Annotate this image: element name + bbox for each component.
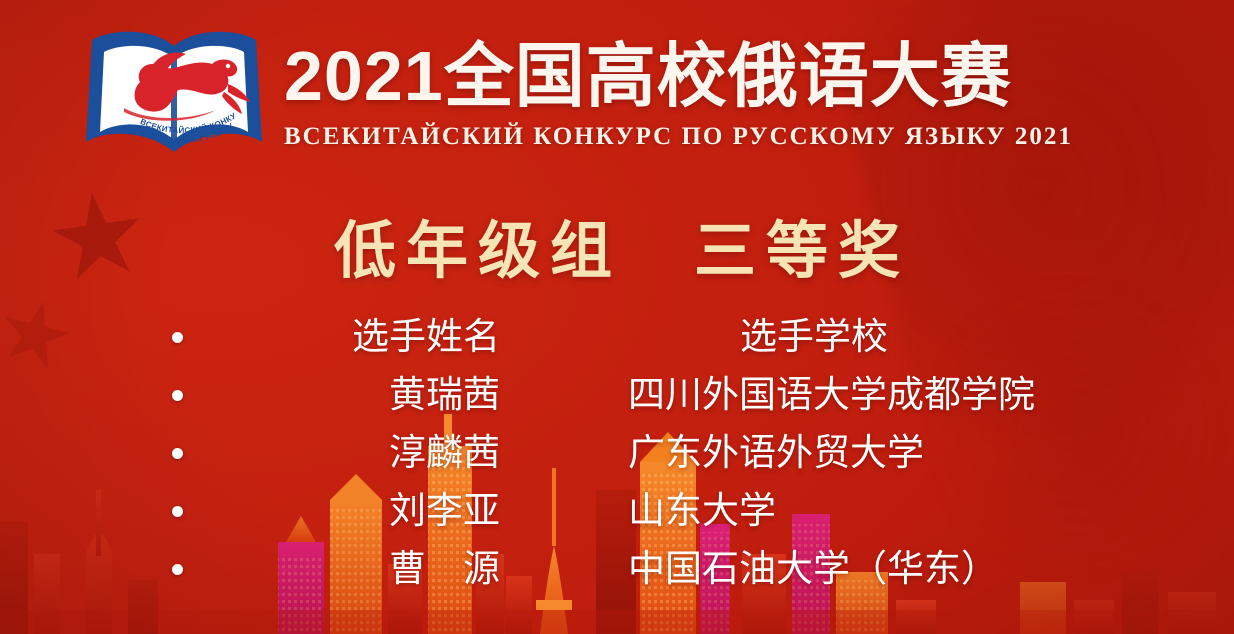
column-header-name: 选手姓名: [255, 314, 500, 360]
open-book-dove-emblem-icon: ВСЕКИТАЙСКИЙ КОНКУРС ПО РУССКОМУ ЯЗЫКУ: [78, 24, 270, 174]
winners-list: 选手姓名 选手学校 黄瑞茜 四川外国语大学成都学院 淳麟茜 广东外语外贸大学 刘…: [0, 308, 1234, 598]
bullet-icon: [172, 506, 183, 517]
winner-name: 曹 源: [255, 546, 500, 592]
winner-school: 广东外语外贸大学: [628, 430, 924, 476]
winner-name: 黄瑞茜: [255, 372, 500, 418]
contest-title-chinese: 2021全国高校俄语大赛: [284, 36, 1164, 116]
bullet-icon: [172, 390, 183, 401]
winner-school: 四川外国语大学成都学院: [628, 372, 1035, 418]
table-row: 黄瑞茜 四川外国语大学成都学院: [0, 366, 1234, 424]
table-header-row: 选手姓名 选手学校: [0, 308, 1234, 366]
bullet-icon: [172, 564, 183, 575]
table-row: 淳麟茜 广东外语外贸大学: [0, 424, 1234, 482]
column-header-school: 选手学校: [628, 314, 1000, 360]
award-category-heading: 低年级组 三等奖: [0, 214, 1234, 290]
table-row: 曹 源 中国石油大学（华东）: [0, 540, 1234, 598]
winner-school: 中国石油大学（华东）: [628, 546, 998, 592]
bullet-icon: [172, 332, 183, 343]
title-block: 2021全国高校俄语大赛 ВСЕКИТАЙСКИЙ КОНКУРС ПО РУС…: [284, 36, 1164, 152]
contest-title-russian: ВСЕКИТАЙСКИЙ КОНКУРС ПО РУССКОМУ ЯЗЫКУ 2…: [284, 122, 1164, 152]
table-row: 刘李亚 山东大学: [0, 482, 1234, 540]
slide-header: ВСЕКИТАЙСКИЙ КОНКУРС ПО РУССКОМУ ЯЗЫКУ 2…: [0, 0, 1234, 190]
award-slide: ВСЕКИТАЙСКИЙ КОНКУРС ПО РУССКОМУ ЯЗЫКУ 2…: [0, 0, 1234, 634]
winner-school: 山东大学: [628, 488, 776, 534]
bullet-icon: [172, 448, 183, 459]
winner-name: 淳麟茜: [255, 430, 500, 476]
winner-name: 刘李亚: [255, 488, 500, 534]
